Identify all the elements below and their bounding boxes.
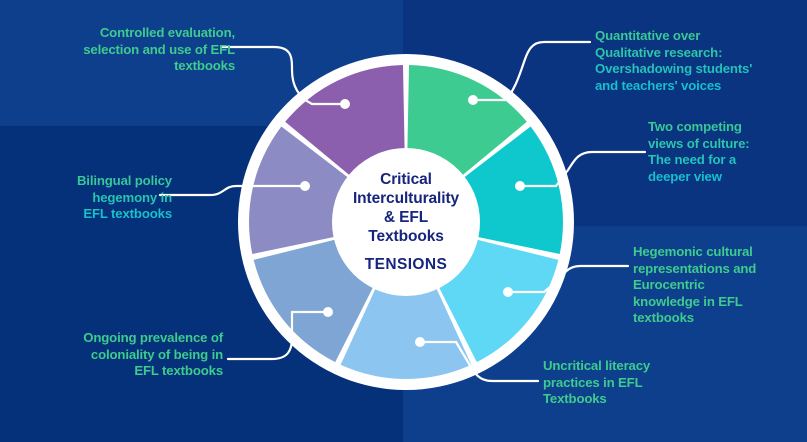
connector-path-6: [556, 152, 645, 186]
dot-segment-cyan: [515, 181, 525, 191]
dot-segment-purple: [340, 99, 350, 109]
label-quantitative-over-qualitative: Quantitative over Qualitative research: …: [595, 28, 795, 94]
dot-segment-lavender: [300, 181, 310, 191]
connector-path-7: [506, 42, 590, 100]
inner-hub: [332, 148, 480, 296]
dot-segment-green: [468, 95, 478, 105]
label-bilingual-policy: Bilingual policy hegemony in EFL textboo…: [20, 173, 172, 223]
label-ongoing-prevalence: Ongoing prevalence of coloniality of bei…: [38, 330, 223, 380]
label-uncritical-literacy: Uncritical literacy practices in EFL Tex…: [543, 358, 733, 408]
label-two-competing-views: Two competing views of culture: The need…: [648, 119, 788, 185]
dot-segment-lightblue: [415, 337, 425, 347]
infographic-canvas: Quantitative over Qualitative research: …: [0, 0, 807, 442]
label-hegemonic-cultural: Hegemonic cultural representations and E…: [633, 244, 807, 327]
label-controlled-evaluation: Controlled evaluation, selection and use…: [20, 25, 235, 75]
dot-segment-steelblue: [323, 307, 333, 317]
dot-segment-lightcyan: [503, 287, 513, 297]
